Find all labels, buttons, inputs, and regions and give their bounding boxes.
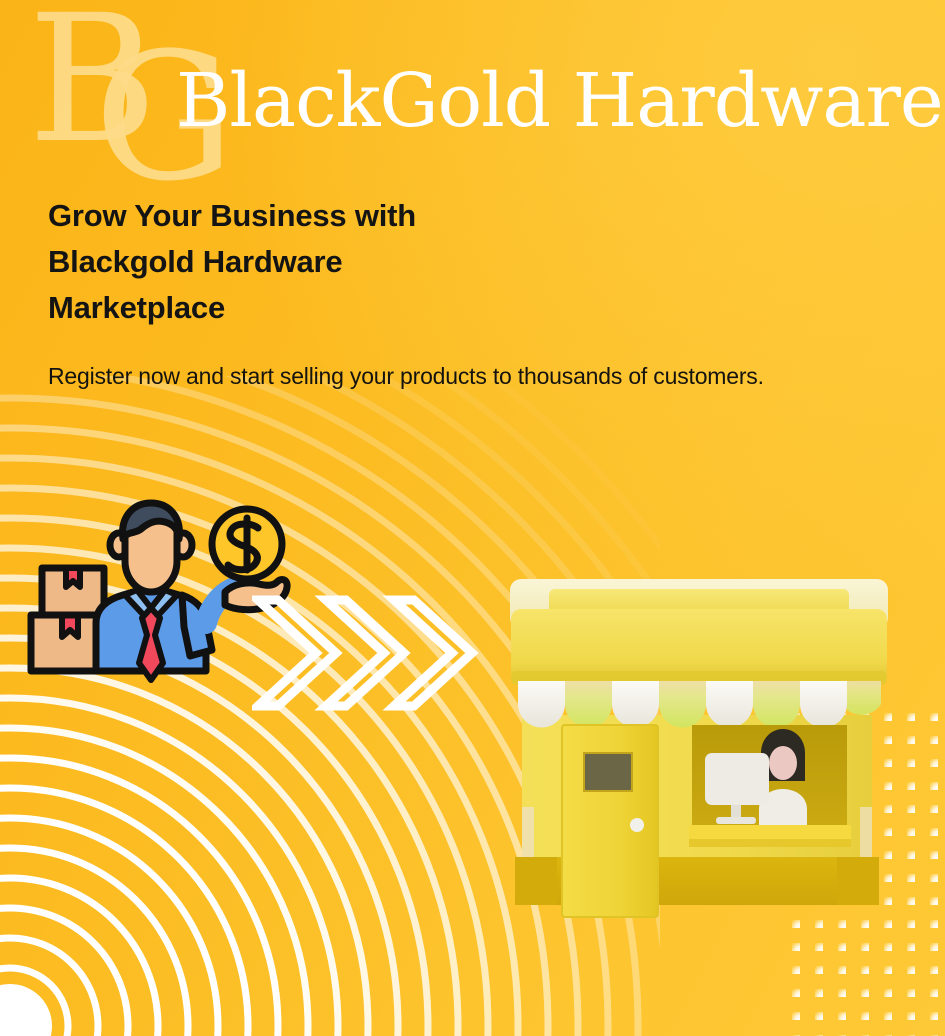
subheadline: Register now and start selling your prod…	[48, 361, 878, 391]
promo-banner: B G BlackGold Hardware Grow Your Busines…	[0, 0, 945, 1036]
headline: Grow Your Business with Blackgold Hardwa…	[48, 193, 878, 331]
monogram-letter-b: B	[28, 0, 157, 168]
chevron-right-icon-1	[258, 600, 336, 706]
storefront-illustration	[497, 567, 902, 927]
chevron-arrows	[252, 592, 484, 714]
headline-block: Grow Your Business with Blackgold Hardwa…	[48, 193, 878, 391]
shop-door	[562, 725, 658, 917]
headline-line-2: Blackgold Hardware	[48, 239, 878, 285]
headline-line-3: Marketplace	[48, 285, 878, 331]
brand-title: BlackGold Hardware	[176, 64, 943, 138]
service-window	[689, 725, 851, 847]
brand-header: B G BlackGold Hardware	[0, 0, 945, 186]
headline-line-1: Grow Your Business with	[48, 193, 878, 239]
